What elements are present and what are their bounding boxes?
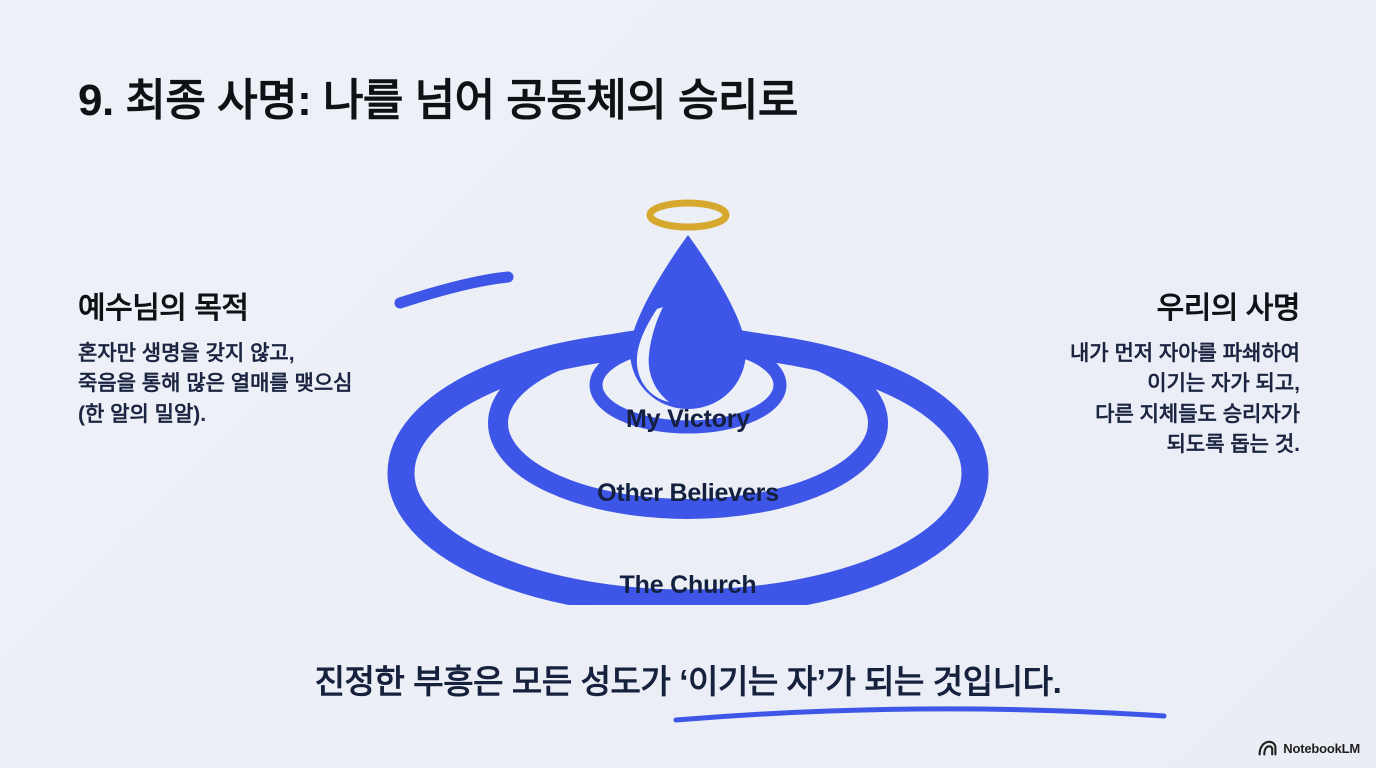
halo-icon — [650, 203, 726, 227]
right-column-heading: 우리의 사명 — [970, 292, 1300, 325]
right-text-column: 우리의 사명 내가 먼저 자아를 파쇄하여 이기는 자가 되고, 다른 지체들도… — [970, 292, 1300, 461]
ripple-graphic — [358, 185, 1018, 605]
caption-underline-stroke — [672, 700, 1168, 726]
caption-underline — [672, 700, 1168, 726]
ring-label-my-victory: My Victory — [358, 405, 1018, 434]
notebooklm-watermark-label: NotebookLM — [1283, 741, 1360, 756]
ring-label-the-church: The Church — [358, 571, 1018, 600]
slide-canvas: 9. 최종 사명: 나를 넘어 공동체의 승리로 예수님의 목적 혼자만 생명을… — [0, 0, 1376, 768]
page-title: 9. 최종 사명: 나를 넘어 공동체의 승리로 — [78, 64, 798, 128]
summary-caption: 진정한 부흥은 모든 성도가 ‘이기는 자’가 되는 것입니다. — [0, 655, 1376, 703]
notebooklm-logo-icon — [1258, 740, 1277, 756]
right-column-body: 내가 먼저 자아를 파쇄하여 이기는 자가 되고, 다른 지체들도 승리자가 되… — [970, 339, 1300, 461]
notebooklm-watermark: NotebookLM — [1258, 740, 1360, 756]
ring-label-other-believers: Other Believers — [358, 479, 1018, 508]
splash-accent-left-upper — [400, 277, 508, 303]
concentric-ripple-diagram: My Victory Other Believers The Church — [358, 185, 1018, 605]
